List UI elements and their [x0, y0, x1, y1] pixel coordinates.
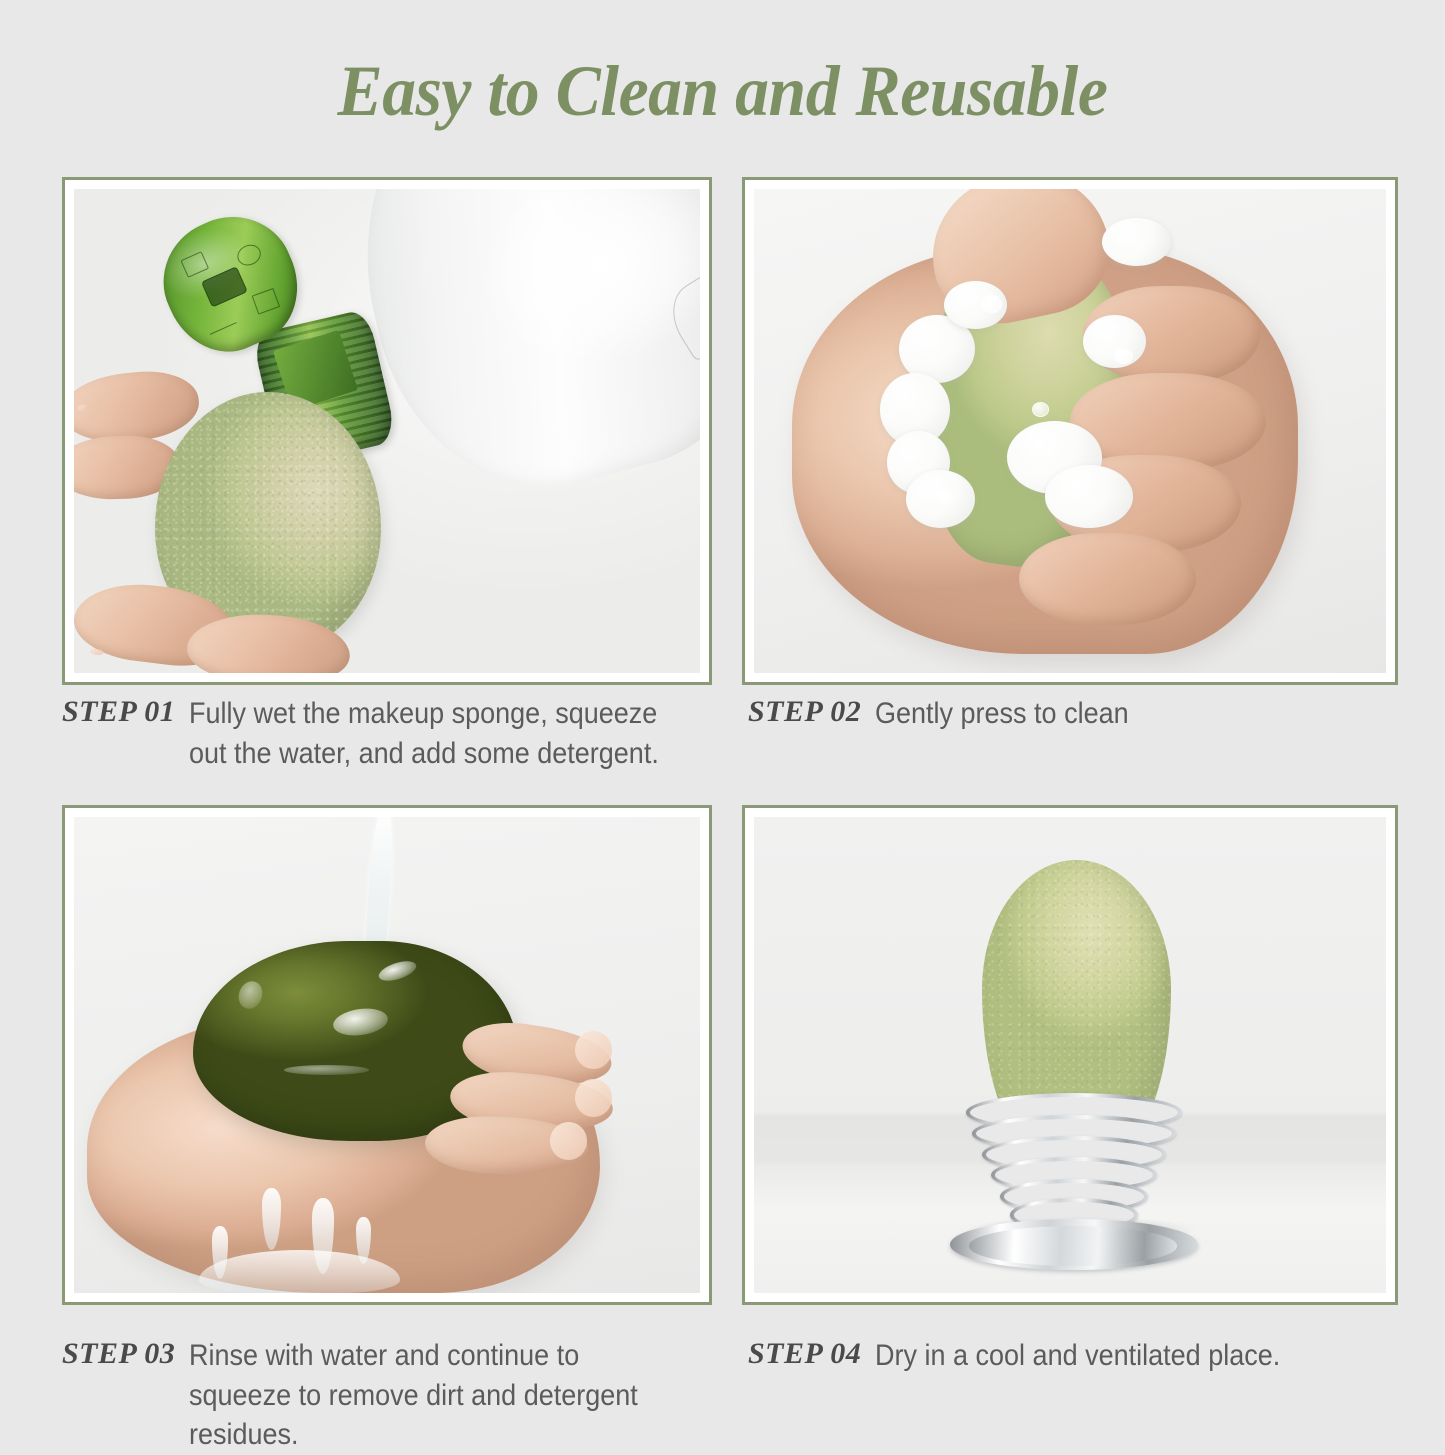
step-description: Dry in a cool and ventilated place. — [875, 1336, 1280, 1376]
infographic-root: Easy to Clean and Reusable — [0, 0, 1445, 1445]
step-label: STEP 02 — [748, 695, 861, 728]
step-photo-frame-3 — [62, 805, 712, 1305]
step-photo-3 — [74, 817, 700, 1293]
step-caption-1: STEP 01 Fully wet the makeup sponge, squ… — [62, 694, 722, 773]
step-photo-frame-1 — [62, 177, 712, 685]
finger-knuckle — [1019, 533, 1196, 625]
lid-symbol-icon — [203, 307, 237, 335]
step-photo-frame-2 — [742, 177, 1398, 685]
step-label: STEP 01 — [62, 695, 175, 728]
step-description: Rinse with water and continue to squeeze… — [189, 1336, 668, 1455]
soap-bubble — [1032, 402, 1049, 417]
step-photo-1 — [74, 189, 700, 673]
step-label: STEP 04 — [748, 1337, 861, 1370]
soap-bubble — [982, 295, 1003, 312]
lid-symbol-icon — [201, 266, 248, 307]
step-photo-2 — [754, 189, 1386, 673]
step-caption-4: STEP 04 Dry in a cool and ventilated pla… — [748, 1336, 1408, 1376]
step-photo-frame-4 — [742, 805, 1398, 1305]
soap-foam — [1045, 465, 1133, 528]
bottle-leaf-graphic — [659, 275, 700, 362]
lid-symbol-icon — [180, 251, 209, 278]
spring-stand-base — [969, 1226, 1177, 1265]
lid-symbol-icon — [233, 241, 263, 269]
water-gloss-highlight — [377, 957, 419, 984]
water-gloss-highlight — [331, 1005, 389, 1038]
lid-warning-icon — [251, 288, 280, 315]
step-caption-3: STEP 03 Rinse with water and continue to… — [62, 1336, 722, 1455]
soap-bubble — [1114, 349, 1132, 365]
page-title: Easy to Clean and Reusable — [43, 52, 1401, 131]
fingernail — [550, 1122, 588, 1160]
step-description: Gently press to clean — [875, 694, 1129, 734]
step-caption-2: STEP 02 Gently press to clean — [748, 694, 1408, 734]
soap-bubble — [937, 489, 953, 503]
fingernail — [78, 405, 88, 411]
step-label: STEP 03 — [62, 1337, 175, 1370]
step-photo-4 — [754, 817, 1386, 1293]
fingernail — [575, 1079, 613, 1117]
water-gloss-highlight — [234, 978, 265, 1012]
water-gloss-highlight — [284, 1065, 369, 1075]
step-description: Fully wet the makeup sponge, squeeze out… — [189, 694, 668, 773]
